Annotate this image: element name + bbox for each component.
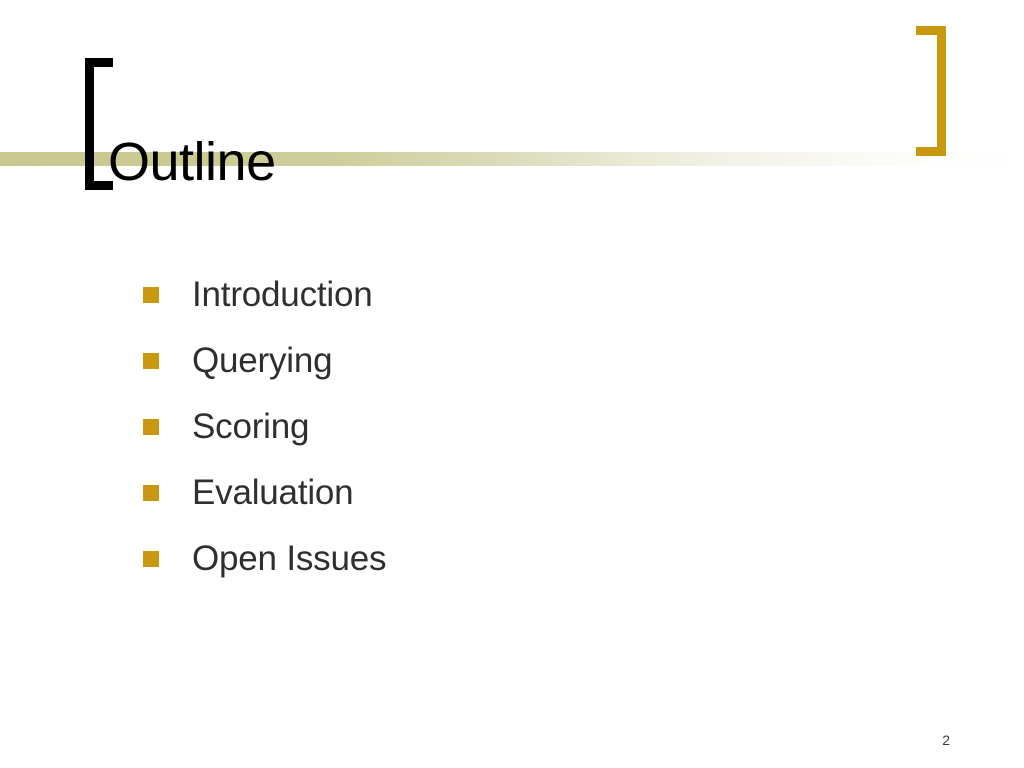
- square-bullet-icon: [143, 287, 159, 303]
- list-item-label: Scoring: [192, 407, 309, 447]
- list-item[interactable]: Open Issues: [143, 526, 903, 592]
- page-title: Outline: [108, 132, 276, 192]
- list-item-label: Evaluation: [192, 473, 353, 513]
- outline-bullet-list: Introduction Querying Scoring Evaluation…: [143, 262, 903, 592]
- square-bullet-icon: [143, 419, 159, 435]
- list-item[interactable]: Introduction: [143, 262, 903, 328]
- page-number: 2: [942, 732, 950, 748]
- square-bullet-icon: [143, 551, 159, 567]
- list-item[interactable]: Querying: [143, 328, 903, 394]
- list-item[interactable]: Scoring: [143, 394, 903, 460]
- square-bullet-icon: [143, 353, 159, 369]
- presentation-slide: Outline Introduction Querying Scoring Ev…: [0, 0, 1024, 768]
- right-bracket-decoration-icon: [916, 26, 946, 156]
- square-bullet-icon: [143, 485, 159, 501]
- list-item-label: Open Issues: [192, 539, 386, 579]
- list-item[interactable]: Evaluation: [143, 460, 903, 526]
- list-item-label: Introduction: [192, 275, 373, 315]
- list-item-label: Querying: [192, 341, 332, 381]
